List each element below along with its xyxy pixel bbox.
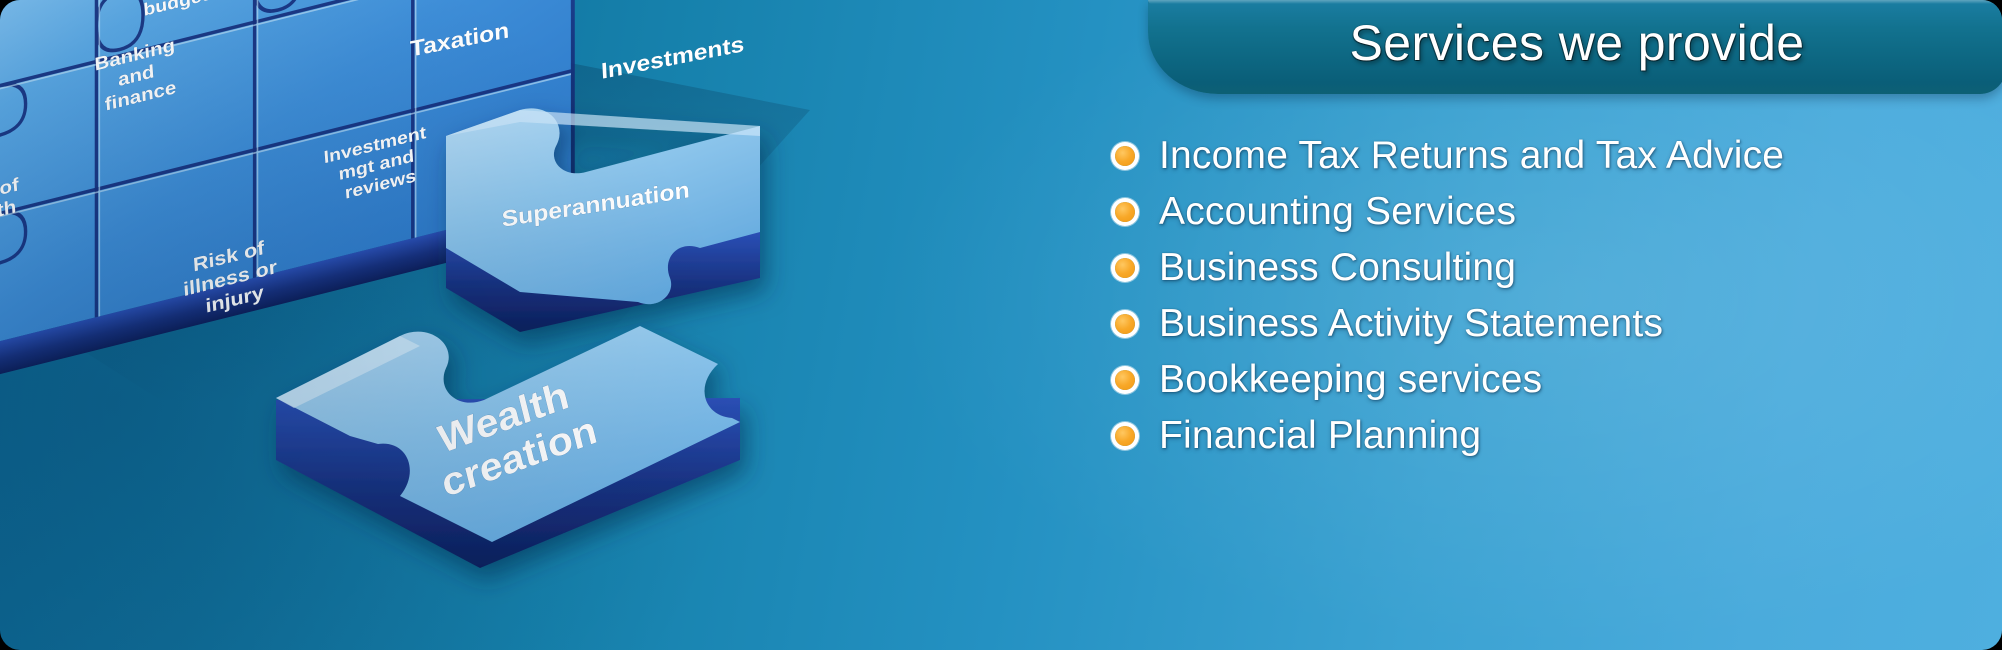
list-item[interactable]: Income Tax Returns and Tax Advice <box>1108 128 1784 184</box>
board-face <box>0 0 571 357</box>
puzzle-label-risk-of-death: Risk of death <box>0 173 27 233</box>
list-item[interactable]: Bookkeeping services <box>1108 352 1784 408</box>
bullet-dot-icon <box>1115 258 1135 278</box>
services-list: Income Tax Returns and Tax Advice Accoun… <box>1108 128 1784 464</box>
page-title: Services we provide <box>1349 14 1804 72</box>
list-item[interactable]: Financial Planning <box>1108 408 1784 464</box>
puzzle-piece-wealth-creation: Wealth creation <box>276 326 740 568</box>
bullet-dot-icon <box>1115 314 1135 334</box>
service-label: Financial Planning <box>1159 414 1481 458</box>
puzzle-label-superannuation: Superannuation <box>501 177 690 232</box>
service-label: Accounting Services <box>1159 190 1516 234</box>
service-label: Business Activity Statements <box>1159 302 1663 346</box>
service-label: Income Tax Returns and Tax Advice <box>1159 134 1784 178</box>
bullet-dot-icon <box>1115 370 1135 390</box>
puzzle-label-risk-of-illness-or-injury: Risk of illness or injury <box>181 233 285 323</box>
puzzle-board-main <box>0 0 575 390</box>
puzzle-piece-superannuation: Superannuation <box>446 108 760 332</box>
puzzle-labels: Saving and budgeting Banking and finance <box>0 0 745 323</box>
list-item[interactable]: Business Activity Statements <box>1108 296 1784 352</box>
header-tab: Services we provide <box>1148 0 2002 94</box>
list-item[interactable]: Business Consulting <box>1108 240 1784 296</box>
puzzle-label-wealth-creation: Wealth creation <box>427 366 601 506</box>
board-ground-shadow <box>0 10 810 410</box>
puzzle-label-saving-and-budgeting: Saving and budgeting <box>140 0 238 20</box>
puzzle-label-banking-and-finance: Banking and finance <box>94 34 184 118</box>
bullet-dot-icon <box>1115 426 1135 446</box>
puzzle-label-investment-mgt-and-reviews: Investment mgt and reviews <box>323 121 435 207</box>
services-banner: Saving and budgeting Banking and finance <box>0 0 2002 650</box>
bullet-dot-icon <box>1115 146 1135 166</box>
puzzle-label-taxation: Taxation <box>410 19 510 63</box>
list-item[interactable]: Accounting Services <box>1108 184 1784 240</box>
puzzle-label-investments: Investments <box>600 32 744 84</box>
service-label: Bookkeeping services <box>1159 358 1542 402</box>
puzzle-illustration: Saving and budgeting Banking and finance <box>0 0 940 650</box>
bullet-dot-icon <box>1115 202 1135 222</box>
service-label: Business Consulting <box>1159 246 1516 290</box>
